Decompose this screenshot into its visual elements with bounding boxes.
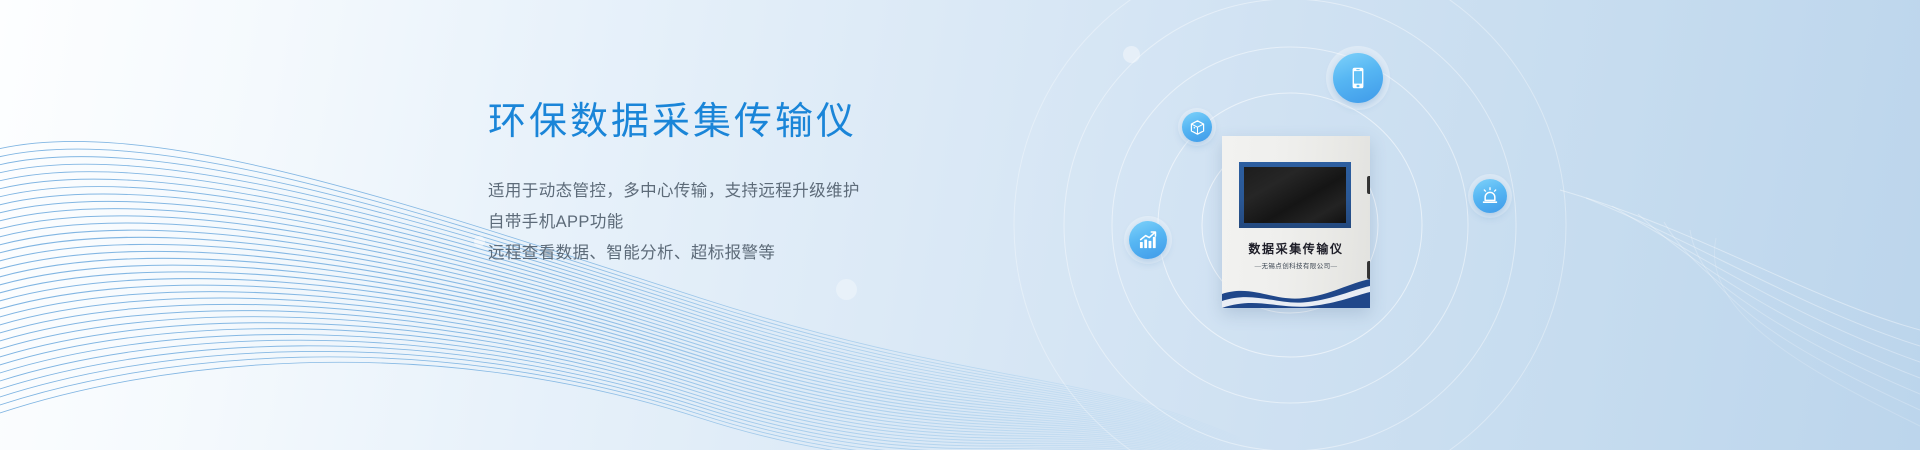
device-hinge-top xyxy=(1367,176,1370,194)
device-wave-graphic xyxy=(1222,268,1370,308)
chart-icon-core xyxy=(1129,221,1167,259)
hero-text-block: 环保数据采集传输仪 适用于动态管控，多中心传输，支持远程升级维护 自带手机APP… xyxy=(488,96,1048,269)
device-screen-bezel xyxy=(1239,162,1351,228)
device-label-title: 数据采集传输仪 xyxy=(1222,240,1370,257)
alarm-icon[interactable] xyxy=(1468,174,1512,218)
description-line: 远程查看数据、智能分析、超标报警等 xyxy=(488,238,1048,269)
cube-icon-core xyxy=(1182,112,1212,142)
cube-icon[interactable] xyxy=(1178,108,1216,146)
description-list: 适用于动态管控，多中心传输，支持远程升级维护 自带手机APP功能 远程查看数据、… xyxy=(488,176,1048,269)
description-line: 自带手机APP功能 xyxy=(488,207,1048,238)
phone-icon[interactable] xyxy=(1326,46,1390,110)
page-title: 环保数据采集传输仪 xyxy=(488,96,1048,148)
device-hinge-bottom xyxy=(1367,261,1370,279)
chart-icon[interactable] xyxy=(1124,216,1172,264)
product-device-image: 数据采集传输仪 —无锡点创科技有限公司— xyxy=(1222,136,1370,308)
soft-dot-medium xyxy=(836,279,857,300)
phone-icon-core xyxy=(1333,53,1383,103)
alarm-icon-core xyxy=(1473,179,1507,213)
description-line: 适用于动态管控，多中心传输，支持远程升级维护 xyxy=(488,176,1048,207)
product-hero-banner: 环保数据采集传输仪 适用于动态管控，多中心传输，支持远程升级维护 自带手机APP… xyxy=(0,0,1920,450)
soft-dot-small xyxy=(474,236,485,247)
device-label: 数据采集传输仪 —无锡点创科技有限公司— xyxy=(1222,240,1370,270)
soft-dot-large xyxy=(1123,46,1140,63)
device-screen xyxy=(1244,167,1346,223)
